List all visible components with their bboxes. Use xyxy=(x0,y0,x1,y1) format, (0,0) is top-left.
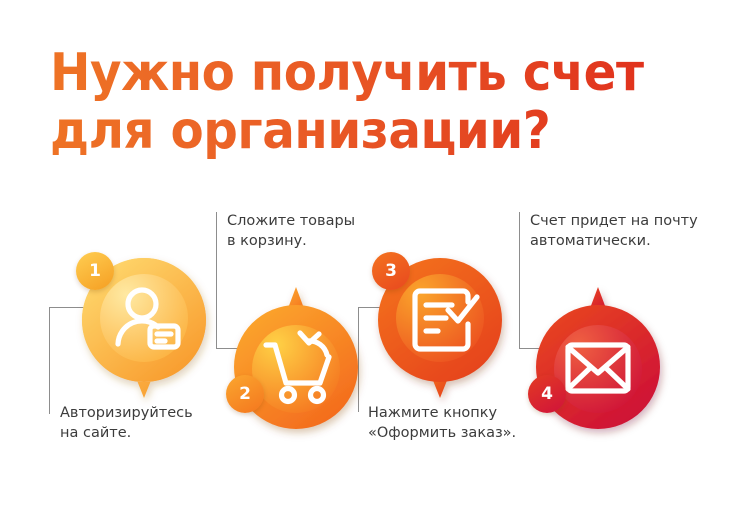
step-2-caption: Сложите товары в корзину. xyxy=(227,211,407,251)
connector-segment-vertical xyxy=(519,212,520,349)
step-3-number: 3 xyxy=(385,261,397,281)
step-4-badge: 4 xyxy=(528,375,566,413)
infographic-canvas: Нужно получить счет для организации? xyxy=(0,0,736,506)
step-2-number: 2 xyxy=(239,384,251,404)
connector-segment-vertical xyxy=(49,307,50,414)
page-title: Нужно получить счет для организации? xyxy=(50,44,655,160)
step-4-caption: Счет придет на почту автоматически. xyxy=(530,211,730,251)
connector-segment-vertical xyxy=(216,212,217,349)
step-3-badge: 3 xyxy=(372,252,410,290)
step-1-number: 1 xyxy=(89,261,101,281)
step-2-badge: 2 xyxy=(226,375,264,413)
step-1-badge: 1 xyxy=(76,252,114,290)
step-1-caption: Авторизируйтесь на сайте. xyxy=(60,403,235,443)
step-4-number: 4 xyxy=(541,384,553,404)
